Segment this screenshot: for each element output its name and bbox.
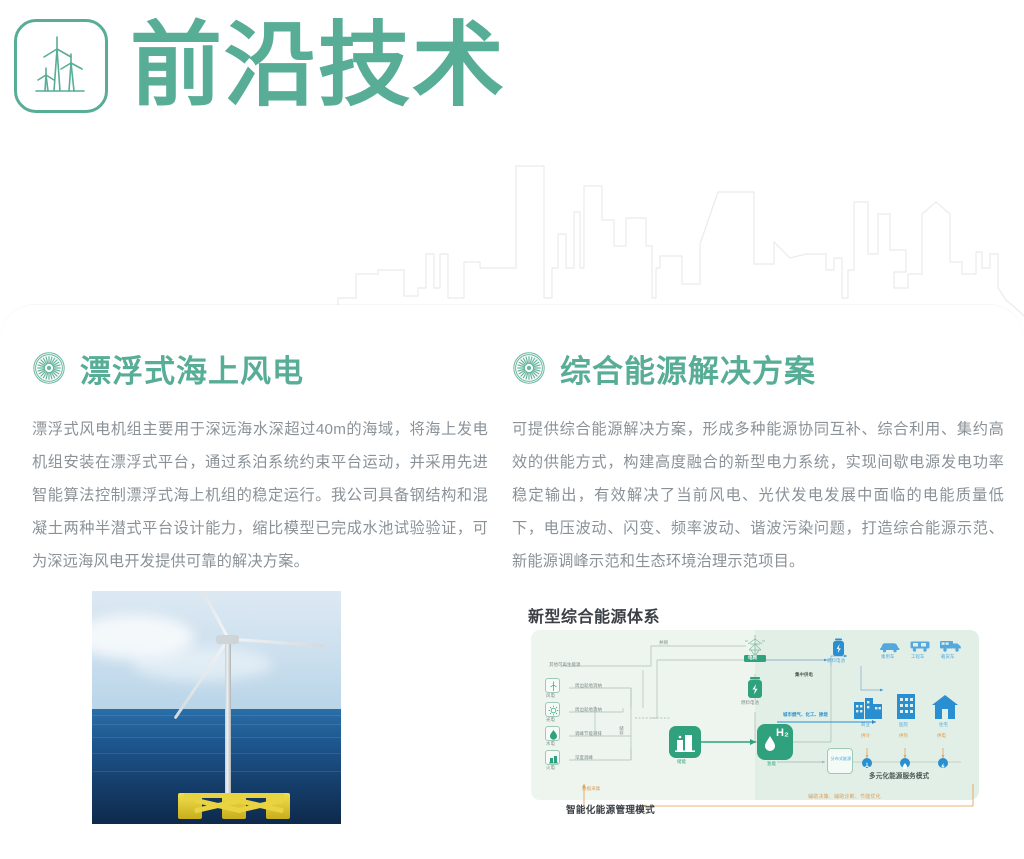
sea-streak bbox=[92, 771, 341, 772]
fuel-cell-right-label: 燃料电池 bbox=[827, 659, 845, 663]
sunburst-wheel-icon bbox=[512, 351, 546, 385]
source-icon-solar bbox=[545, 702, 560, 717]
cooling-icon bbox=[862, 758, 872, 768]
feedback-note-label: 数据采集 bbox=[582, 786, 600, 792]
storage-block-label: 储能 bbox=[677, 760, 686, 764]
platform-beam bbox=[184, 793, 284, 798]
fuel-cell-label: 燃料电池 bbox=[741, 701, 759, 705]
sunburst-wheel-icon bbox=[32, 351, 66, 385]
hydrogen-symbol: H₂ bbox=[776, 728, 789, 739]
diagram-source-group-label: 其他可再生能源 bbox=[549, 663, 580, 667]
service-label-heating: 供热 bbox=[899, 734, 908, 738]
diagram-title: 新型综合能源体系 bbox=[528, 603, 660, 627]
sea-streak bbox=[92, 724, 341, 725]
turbine-tower bbox=[225, 639, 231, 793]
vehicle-label-truck: 载货车 bbox=[941, 655, 954, 659]
grid-node-label: 电网 bbox=[748, 656, 757, 660]
service-label-cooling: 供冷 bbox=[861, 734, 870, 738]
truck-icon bbox=[939, 639, 963, 653]
turbine-nacelle bbox=[216, 635, 239, 644]
section-body: 漂浮式风电机组主要用于深远海水深超过40m的海域，将海上发电机组安装在漂浮式平台… bbox=[32, 413, 488, 578]
source-link-solar: 周边就地消纳 bbox=[575, 708, 602, 712]
shops-icon bbox=[853, 692, 883, 720]
fuel-cell-icon bbox=[746, 676, 764, 700]
hydrogen-block-label: 氢能 bbox=[767, 762, 776, 766]
sea-streak bbox=[92, 715, 341, 716]
section-title: 漂浮式海上风电 bbox=[80, 346, 304, 391]
vehicle-label-car: 乘用车 bbox=[881, 655, 894, 659]
source-icon-thermal bbox=[545, 750, 560, 765]
source-label-wind: 风电 bbox=[546, 694, 555, 698]
power-icon bbox=[938, 758, 948, 768]
house-icon bbox=[931, 692, 959, 720]
building-label-residential: 住宅 bbox=[939, 723, 948, 727]
source-link-thermal: 深度调峰 bbox=[575, 756, 593, 760]
distributed-energy-label: 分布式能源 bbox=[830, 756, 852, 761]
hydrogen-block-icon: H₂ bbox=[757, 724, 793, 760]
building-label-commercial: 商业 bbox=[861, 723, 870, 727]
distributed-energy-box: 分布式能源 bbox=[827, 748, 853, 774]
floating-offshore-wind-turbine-photo bbox=[92, 591, 341, 824]
diagram-grid-label: 并网 bbox=[659, 641, 668, 645]
central-supply-label: 集中供电 bbox=[795, 673, 813, 677]
source-icon-hydro bbox=[545, 726, 560, 741]
diagram-store-label: 储存 bbox=[619, 726, 623, 735]
wind-turbine-icon bbox=[14, 19, 108, 113]
hospital-icon bbox=[895, 692, 917, 720]
management-mode-label: 智能化能源管理模式 bbox=[566, 802, 655, 816]
city-skyline-outline bbox=[330, 158, 1024, 323]
integrated-energy-system-diagram: 其他可再生能源 并网 风电 周边就地消纳 光电 周边就地消纳 水电 调峰节能减排… bbox=[531, 630, 979, 800]
source-link-wind: 周边就地消纳 bbox=[575, 684, 602, 688]
source-icon-wind bbox=[545, 678, 560, 693]
page-title: 前沿技术 bbox=[130, 20, 506, 112]
building-label-hospital: 医院 bbox=[899, 723, 908, 727]
floating-platform bbox=[178, 781, 290, 821]
service-label-power: 供电 bbox=[937, 734, 946, 738]
car-icon bbox=[879, 640, 901, 653]
page-header: 前沿技术 bbox=[0, 0, 1024, 132]
source-link-hydro: 调峰节能减排 bbox=[575, 732, 602, 736]
van-icon bbox=[909, 639, 931, 653]
sea-streak bbox=[92, 753, 341, 754]
source-label-hydro: 水电 bbox=[546, 742, 555, 746]
section-floating-offshore-wind: 漂浮式海上风电 漂浮式风电机组主要用于深远海水深超过40m的海域，将海上发电机组… bbox=[32, 345, 488, 578]
grid-node-chip: 电网 bbox=[744, 655, 766, 662]
vehicle-label-van: 工程车 bbox=[911, 655, 924, 659]
source-label-thermal: 火电 bbox=[546, 766, 555, 770]
gas-chain-label: 城市燃气、化工、掺烧 bbox=[783, 713, 828, 717]
source-label-solar: 光电 bbox=[546, 718, 555, 722]
section-integrated-energy: 综合能源解决方案 可提供综合能源解决方案，形成多种能源协同互补、综合利用、集约高… bbox=[512, 345, 1004, 578]
heating-icon bbox=[900, 758, 910, 768]
storage-block-icon bbox=[669, 726, 701, 758]
fuel-cell-small-icon bbox=[831, 638, 846, 658]
section-title: 综合能源解决方案 bbox=[560, 346, 816, 391]
management-note-label: 辅助决策、辅助诊断、节能优化 bbox=[808, 793, 881, 800]
sea-streak bbox=[92, 737, 341, 738]
section-body: 可提供综合能源解决方案，形成多种能源协同互补、综合利用、集约高效的供能方式，构建… bbox=[512, 413, 1004, 578]
